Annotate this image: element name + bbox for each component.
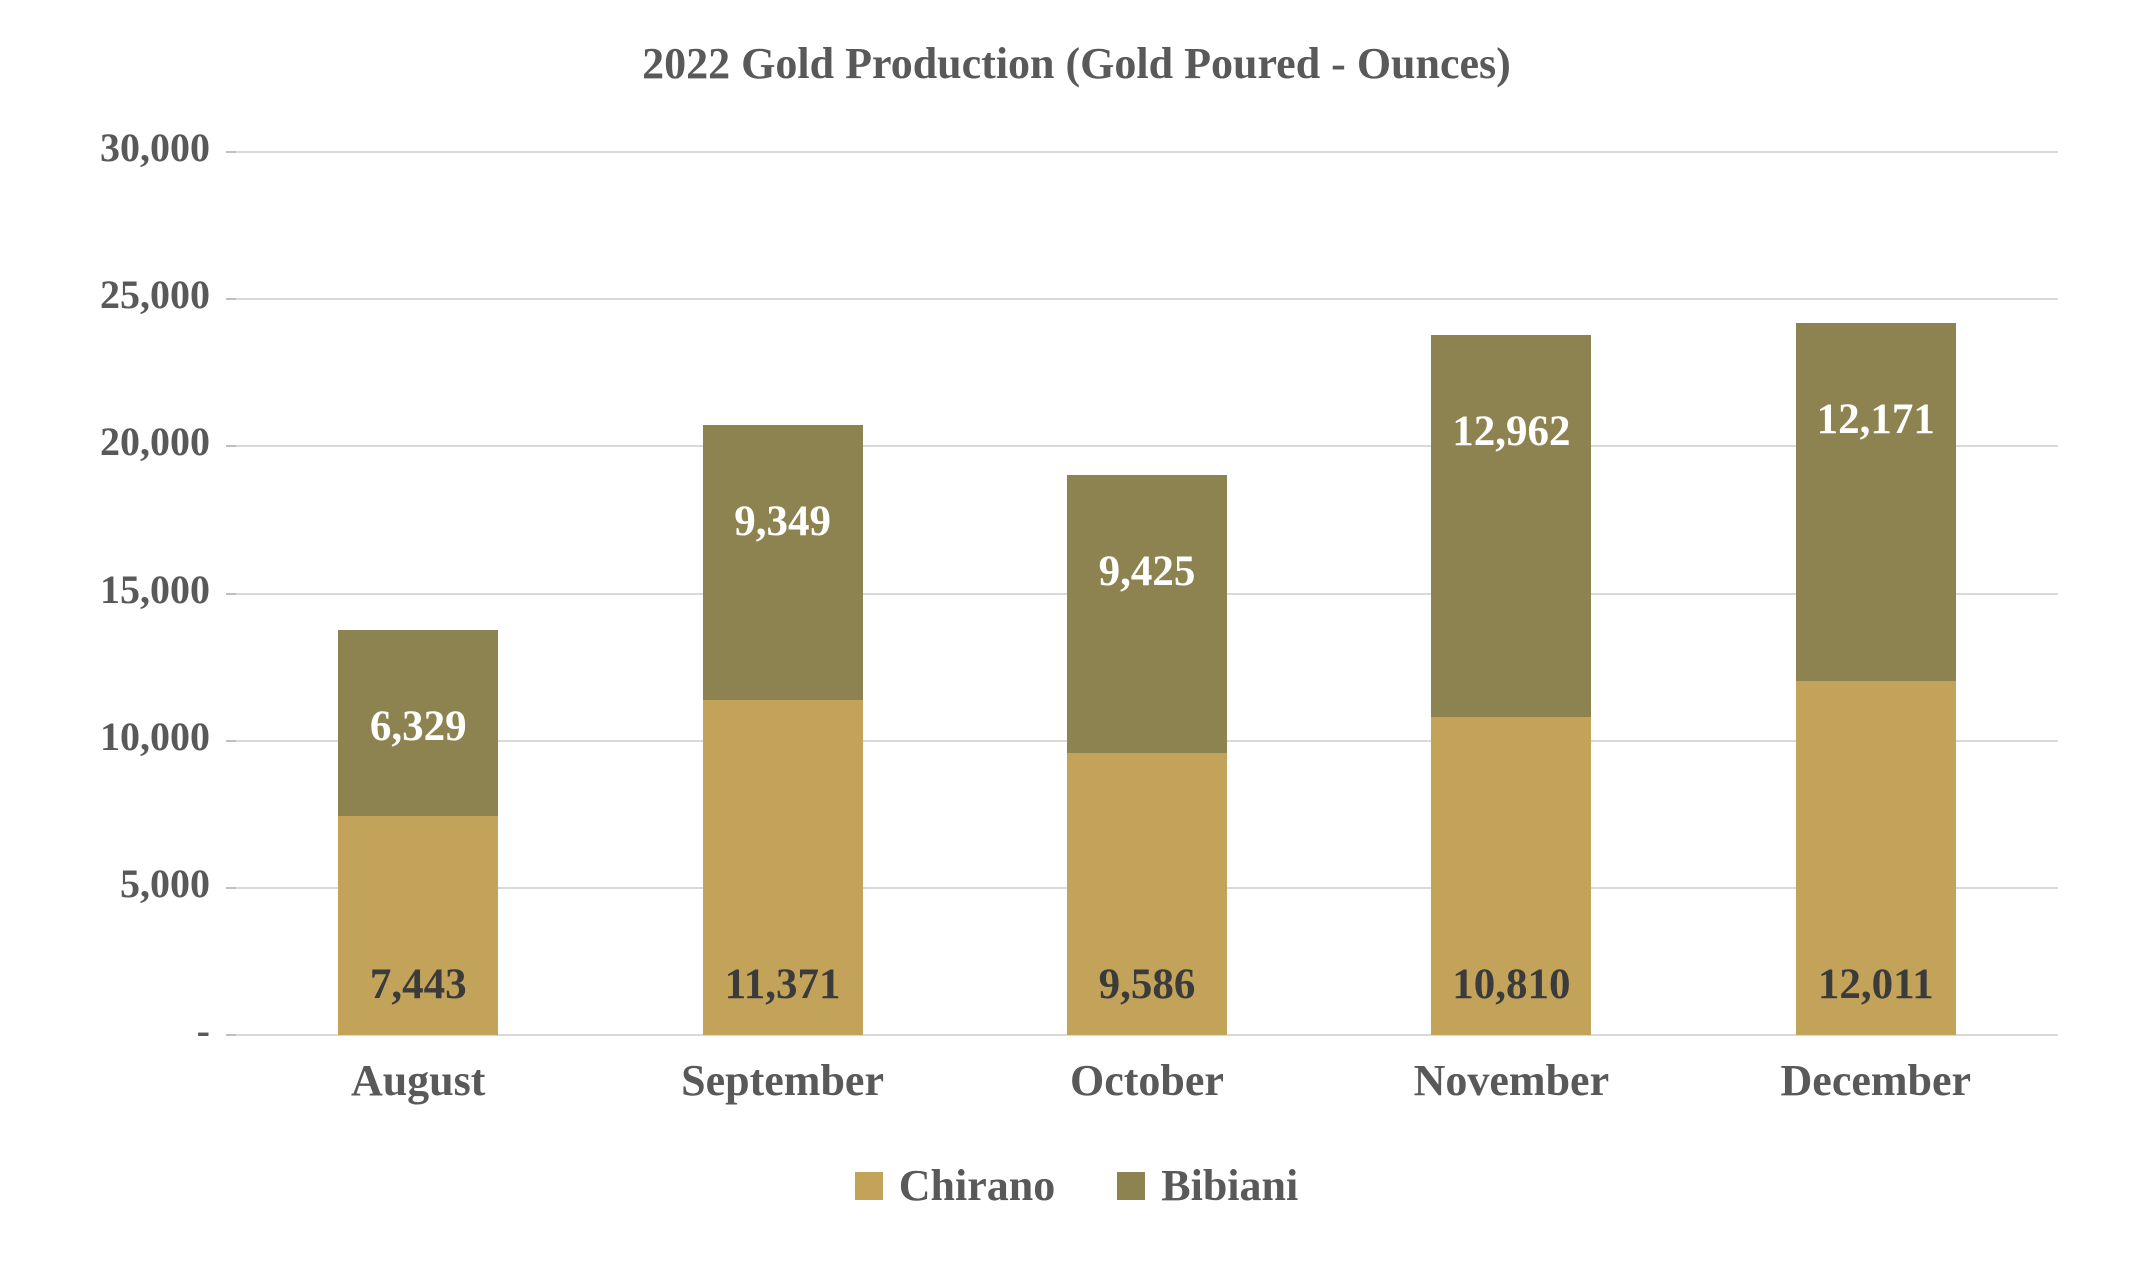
bar-group[interactable]: 12,01112,171 (1694, 152, 2058, 1035)
bar-segment-bibiani[interactable]: 12,171 (1796, 323, 1956, 681)
bar-segment-chirano[interactable]: 10,810 (1431, 717, 1591, 1035)
bar-group[interactable]: 11,3719,349 (600, 152, 964, 1035)
bar-segment-chirano[interactable]: 12,011 (1796, 681, 1956, 1035)
bar-value-label: 12,962 (1431, 407, 1591, 456)
stacked-bar[interactable]: 10,81012,962 (1431, 335, 1591, 1035)
chart-title: 2022 Gold Production (Gold Poured - Ounc… (0, 38, 2153, 89)
stacked-bar[interactable]: 7,4436,329 (338, 630, 498, 1035)
stacked-bar[interactable]: 11,3719,349 (703, 425, 863, 1035)
y-axis-tick-label: 10,000 (20, 713, 210, 760)
bar-group[interactable]: 10,81012,962 (1329, 152, 1693, 1035)
bar-segment-bibiani[interactable]: 12,962 (1431, 335, 1591, 717)
stacked-bar[interactable]: 12,01112,171 (1796, 323, 1956, 1035)
y-axis-tickmark (226, 151, 236, 153)
bar-value-label: 7,443 (338, 960, 498, 1009)
bar-group[interactable]: 7,4436,329 (236, 152, 600, 1035)
y-axis-tickmark (226, 593, 236, 595)
bar-value-label: 9,349 (703, 497, 863, 546)
y-axis-tick-label: 25,000 (20, 271, 210, 318)
chart-legend: ChiranoBibiani (0, 1160, 2153, 1211)
x-axis-category-label: October (965, 1055, 1329, 1106)
legend-item[interactable]: Chirano (855, 1160, 1055, 1211)
bar-value-label: 9,586 (1067, 960, 1227, 1009)
plot-area: 7,4436,32911,3719,3499,5869,42510,81012,… (236, 152, 2058, 1035)
bar-value-label: 12,011 (1796, 960, 1956, 1009)
bar-segment-bibiani[interactable]: 6,329 (338, 630, 498, 816)
y-axis-tick-label: 15,000 (20, 566, 210, 613)
bar-group[interactable]: 9,5869,425 (965, 152, 1329, 1035)
legend-item[interactable]: Bibiani (1117, 1160, 1298, 1211)
y-axis-tickmark (226, 740, 236, 742)
bar-value-label: 11,371 (703, 960, 863, 1009)
x-axis-category-label: August (236, 1055, 600, 1106)
bar-segment-bibiani[interactable]: 9,425 (1067, 475, 1227, 752)
y-axis-tickmark (226, 887, 236, 889)
x-axis-category-label: November (1329, 1055, 1693, 1106)
bar-value-label: 9,425 (1067, 547, 1227, 596)
stacked-bar[interactable]: 9,5869,425 (1067, 475, 1227, 1035)
bar-value-label: 12,171 (1796, 395, 1956, 444)
bar-segment-chirano[interactable]: 11,371 (703, 700, 863, 1035)
x-axis-category-label: December (1694, 1055, 2058, 1106)
y-axis-tick-label: - (20, 1007, 210, 1054)
bar-segment-chirano[interactable]: 9,586 (1067, 753, 1227, 1035)
bar-segment-bibiani[interactable]: 9,349 (703, 425, 863, 700)
bar-value-label: 6,329 (338, 702, 498, 751)
y-axis-tickmark (226, 1034, 236, 1036)
chart-frame: 2022 Gold Production (Gold Poured - Ounc… (0, 0, 2153, 1266)
y-axis-tickmark (226, 298, 236, 300)
legend-label: Chirano (899, 1160, 1055, 1211)
x-axis-category-label: September (600, 1055, 964, 1106)
y-axis-tick-label: 30,000 (20, 124, 210, 171)
y-axis-tick-label: 5,000 (20, 860, 210, 907)
bar-value-label: 10,810 (1431, 960, 1591, 1009)
legend-label: Bibiani (1161, 1160, 1298, 1211)
legend-swatch-icon (1117, 1172, 1145, 1200)
legend-swatch-icon (855, 1172, 883, 1200)
bar-segment-chirano[interactable]: 7,443 (338, 816, 498, 1035)
y-axis-tick-label: 20,000 (20, 418, 210, 465)
y-axis-tickmark (226, 445, 236, 447)
